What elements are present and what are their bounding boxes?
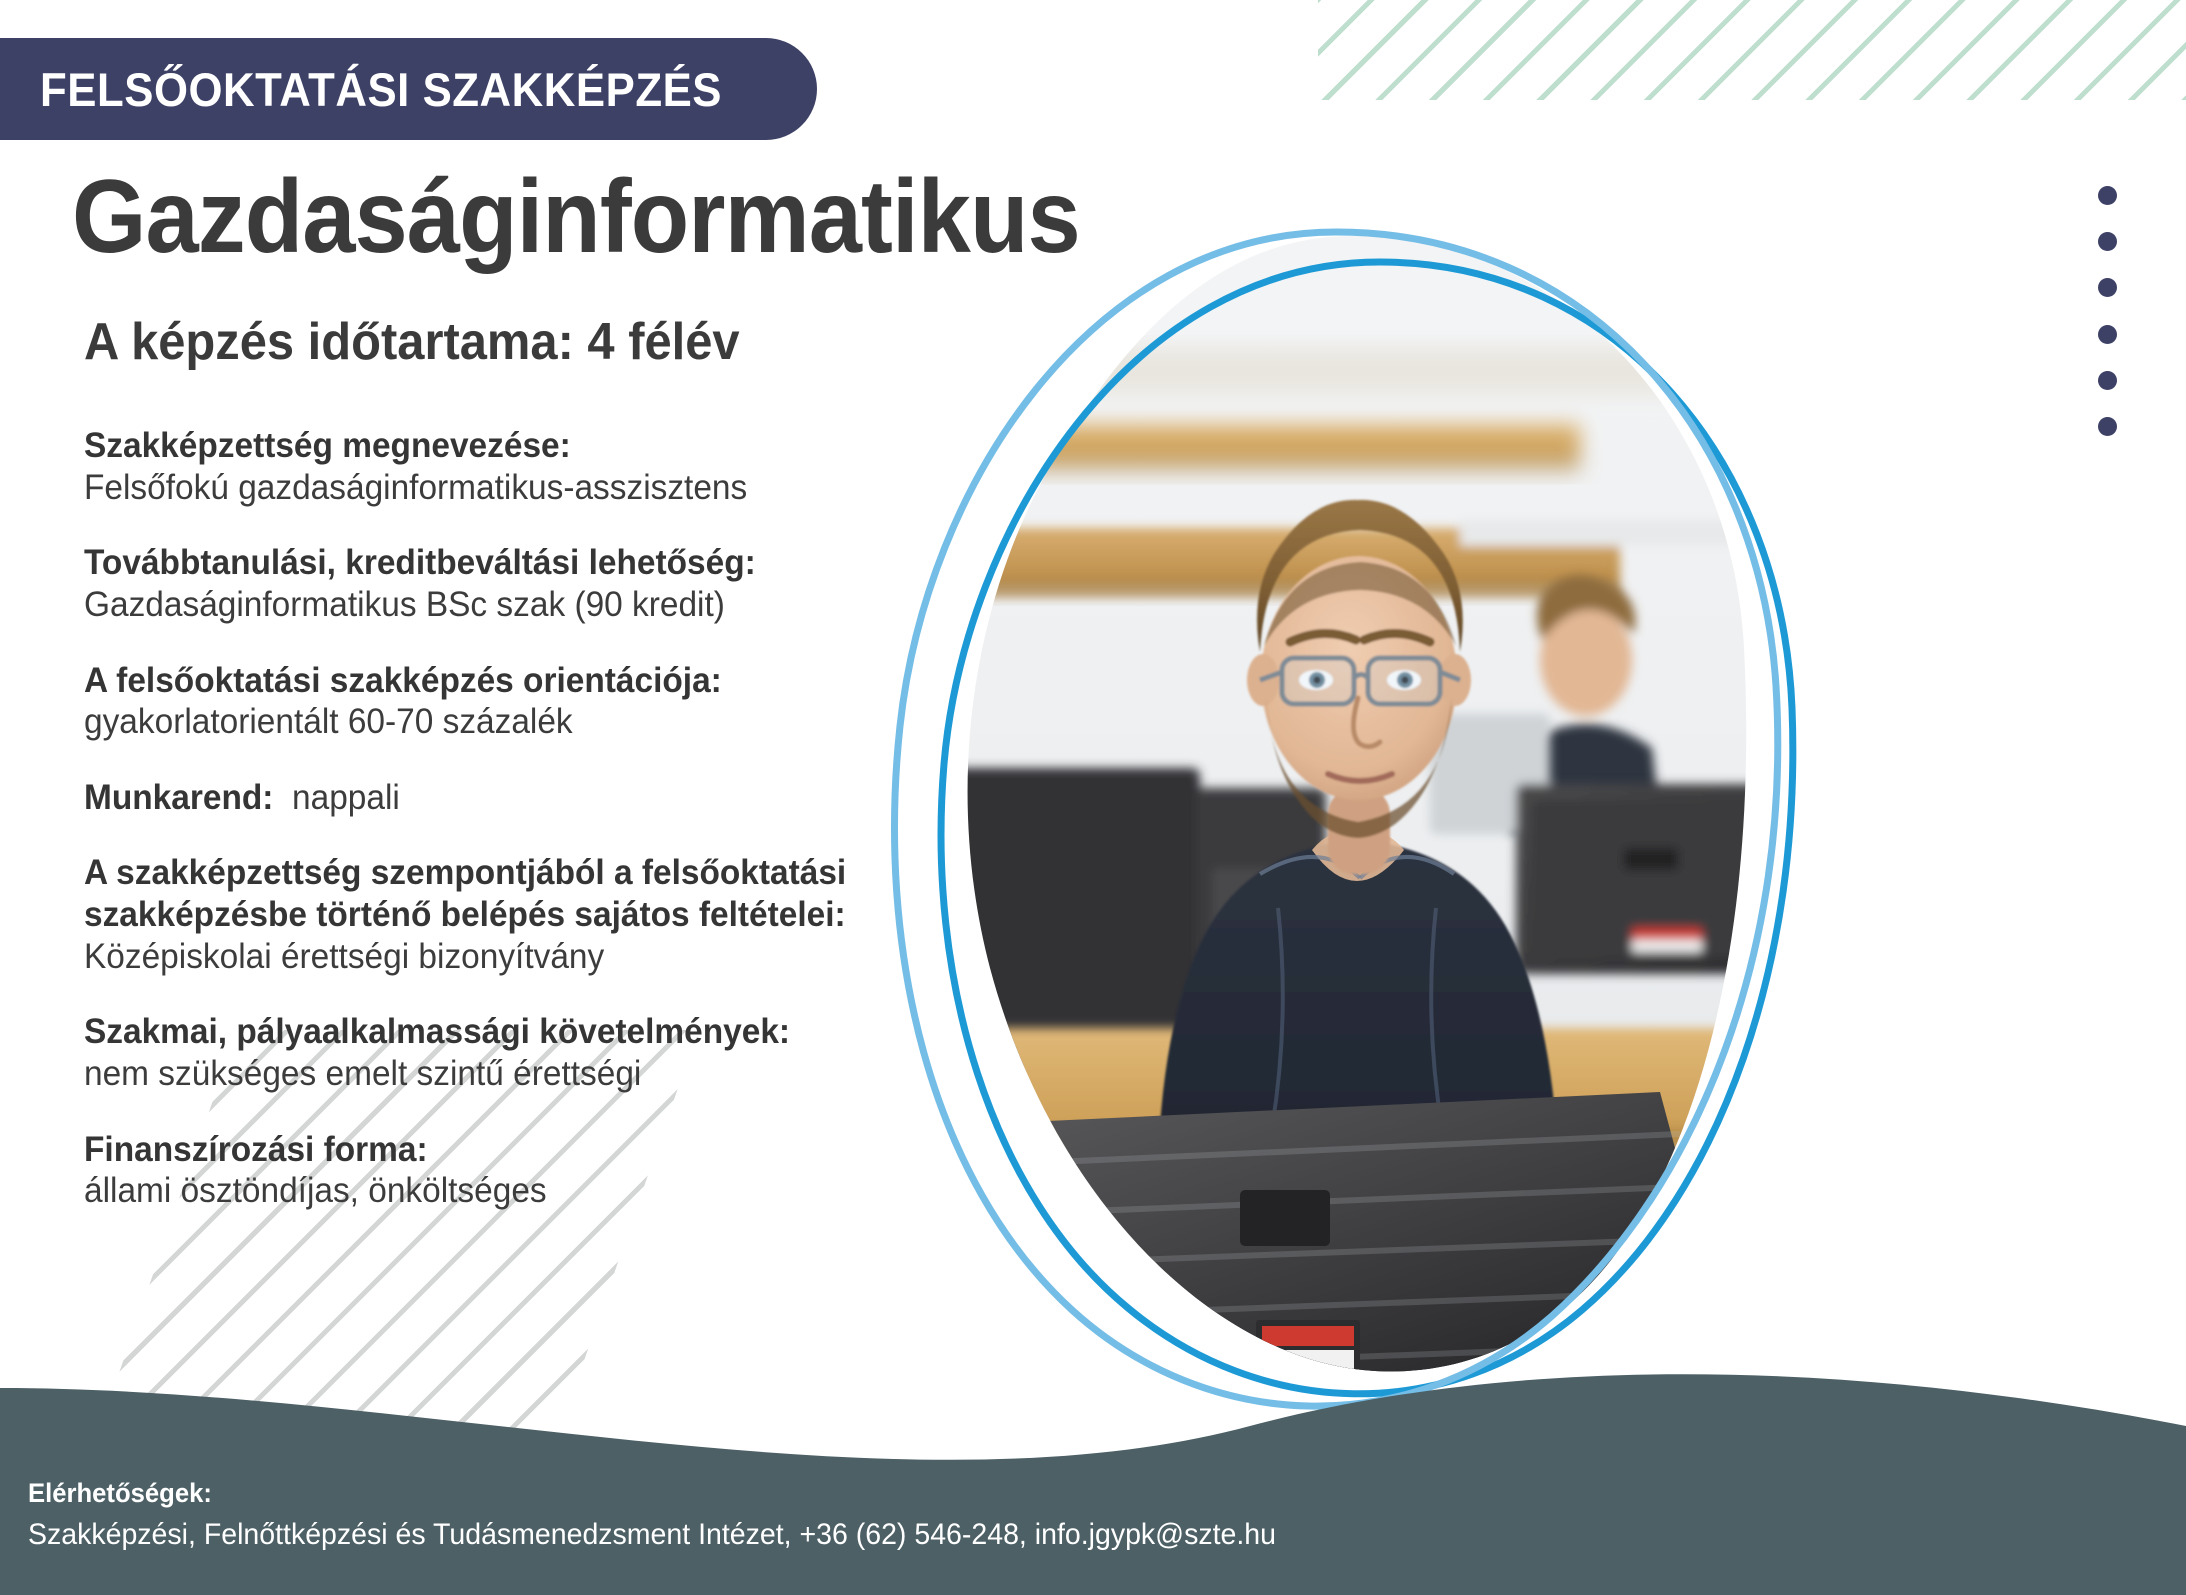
detail-label: Munkarend: <box>84 778 273 817</box>
contact-details[interactable]: Szakképzési, Felnőttképzési és Tudásmene… <box>28 1515 1358 1554</box>
detail-value: Középiskolai érettségi bizonyítvány <box>84 936 944 978</box>
poster-canvas: FELSŐOKTATÁSI SZAKKÉPZÉS Gazdaságinforma… <box>0 0 2186 1595</box>
detail-entry-conditions: A szakképzettség szempontjából a felsőok… <box>84 852 984 977</box>
program-details-list: Szakképzettség megnevezése: Felsőfokú ga… <box>84 425 984 1212</box>
detail-value: Felsőfokú gazdaságinformatikus-assziszte… <box>84 467 944 509</box>
page-title: Gazdaságinformatikus <box>72 158 1080 277</box>
category-badge: FELSŐOKTATÁSI SZAKKÉPZÉS <box>0 38 817 140</box>
detail-label: Szakmai, pályaalkalmassági követelmények… <box>84 1011 944 1053</box>
dot-column-decoration <box>2094 186 2120 436</box>
program-duration: A képzés időtartama: 4 félév <box>84 312 740 372</box>
detail-value: gyakorlatorientált 60-70 százalék <box>84 701 944 743</box>
detail-label: A felsőoktatási szakképzés orientációja: <box>84 660 944 702</box>
dot-icon <box>2098 417 2117 436</box>
dot-icon <box>2098 371 2117 390</box>
detail-label: Szakképzettség megnevezése: <box>84 425 944 467</box>
student-photo <box>960 228 1750 1388</box>
contact-block: Elérhetőségek: Szakképzési, Felnőttképzé… <box>28 1477 1428 1554</box>
detail-value: nappali <box>292 778 400 817</box>
top-stripe-decoration <box>1318 0 2186 100</box>
detail-label: A szakképzettség szempontjából a felsőok… <box>84 852 944 935</box>
detail-value: állami ösztöndíjas, önköltséges <box>84 1170 944 1212</box>
detail-schedule: Munkarend: nappali <box>84 777 984 819</box>
dot-icon <box>2098 278 2117 297</box>
detail-value: Gazdaságinformatikus BSc szak (90 kredit… <box>84 584 944 626</box>
detail-qualification-name: Szakképzettség megnevezése: Felsőfokú ga… <box>84 425 984 508</box>
detail-label: Továbbtanulási, kreditbeváltási lehetősé… <box>84 542 944 584</box>
dot-icon <box>2098 232 2117 251</box>
category-badge-label: FELSŐOKTATÁSI SZAKKÉPZÉS <box>40 62 722 117</box>
detail-financing: Finanszírozási forma: állami ösztöndíjas… <box>84 1129 984 1212</box>
detail-value: nem szükséges emelt szintű érettségi <box>84 1053 944 1095</box>
contact-title: Elérhetőségek: <box>28 1477 1358 1511</box>
photo-blob <box>960 228 1750 1388</box>
dot-icon <box>2098 325 2117 344</box>
detail-orientation: A felsőoktatási szakképzés orientációja:… <box>84 660 984 743</box>
dot-icon <box>2098 186 2117 205</box>
detail-label: Finanszírozási forma: <box>84 1129 944 1171</box>
detail-professional-requirements: Szakmai, pályaalkalmassági követelmények… <box>84 1011 984 1094</box>
detail-further-studies: Továbbtanulási, kreditbeváltási lehetősé… <box>84 542 984 625</box>
